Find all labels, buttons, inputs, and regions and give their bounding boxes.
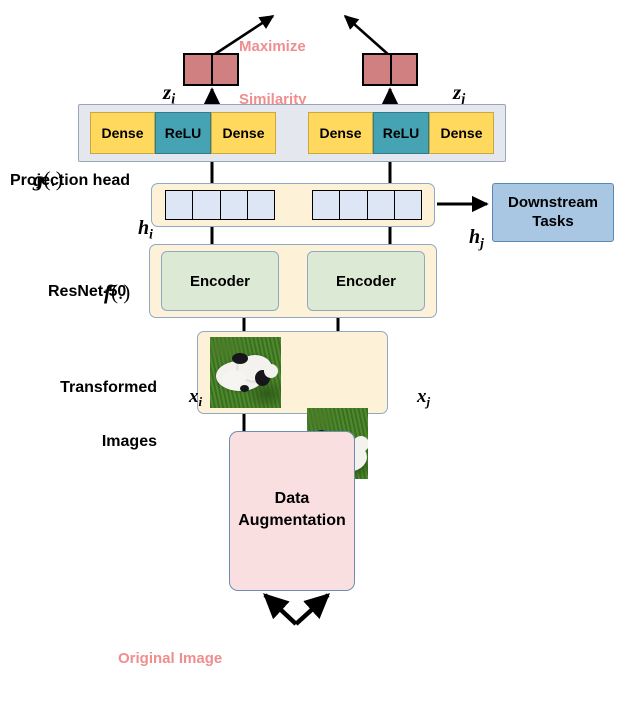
augmentation-line-2: Augmentation [238,510,346,532]
simclr-diagram: Maximize Similarity zi zj Dense ReLU Den… [0,0,622,701]
h-j-cell-1 [340,191,367,219]
encoder-left-label: Encoder [190,273,250,290]
transformed-caption-line-1: Transformed [52,379,157,397]
projection-right-dense-1-label: Dense [319,125,361,141]
encoder-left[interactable]: Encoder [161,251,279,311]
h-i-cell-0 [166,191,193,219]
transformed-image-left [210,337,281,408]
z-j-vector [362,53,418,86]
objective-line-1: Maximize [239,38,307,56]
projection-right-dense-1[interactable]: Dense [308,112,373,154]
encoder-right[interactable]: Encoder [307,251,425,311]
z-i-vector [183,53,239,86]
h-i-cell-2 [221,191,248,219]
x-i-label: xi [170,364,202,432]
arrow-z-j-to-objective [345,16,390,56]
encoder-architecture-label: ResNet-50 [48,283,126,301]
transformed-caption-line-2: Images [52,433,157,451]
h-j-vector [312,190,422,220]
projection-left-relu-label: ReLU [165,125,202,141]
projection-left-dense-1[interactable]: Dense [90,112,155,154]
z-i-divider [211,55,213,84]
downstream-line-1: Downstream [508,194,598,213]
projection-left-relu[interactable]: ReLU [155,112,211,154]
projection-left-dense-2[interactable]: Dense [211,112,276,154]
downstream-tasks-box[interactable]: Downstream Tasks [492,183,614,242]
encoder-right-label: Encoder [336,273,396,290]
augmentation-line-1: Data [238,488,346,510]
original-image-caption: Original Image [118,650,222,668]
h-i-cell-1 [193,191,220,219]
projection-right-dense-2-label: Dense [440,125,482,141]
projection-left-dense-1-label: Dense [101,125,143,141]
h-j-cell-3 [395,191,421,219]
projection-right-relu-label: ReLU [383,125,420,141]
downstream-line-2: Tasks [508,213,598,232]
z-j-divider [390,55,392,84]
h-i-vector [165,190,275,220]
h-i-cell-3 [248,191,274,219]
arrow-original-to-augmentation-left [265,595,296,624]
projection-left-dense-2-label: Dense [222,125,264,141]
h-j-cell-0 [313,191,340,219]
arrow-original-to-augmentation-right [296,595,328,624]
projection-head-caption: Projection head [10,172,130,190]
x-j-label: xj [398,364,430,432]
projection-right-relu[interactable]: ReLU [373,112,429,154]
projection-right-dense-2[interactable]: Dense [429,112,494,154]
transformed-images-caption: Transformed Images [52,343,157,486]
h-j-label: hj [449,203,484,274]
data-augmentation-box[interactable]: Data Augmentation [229,431,355,591]
h-j-cell-2 [368,191,395,219]
